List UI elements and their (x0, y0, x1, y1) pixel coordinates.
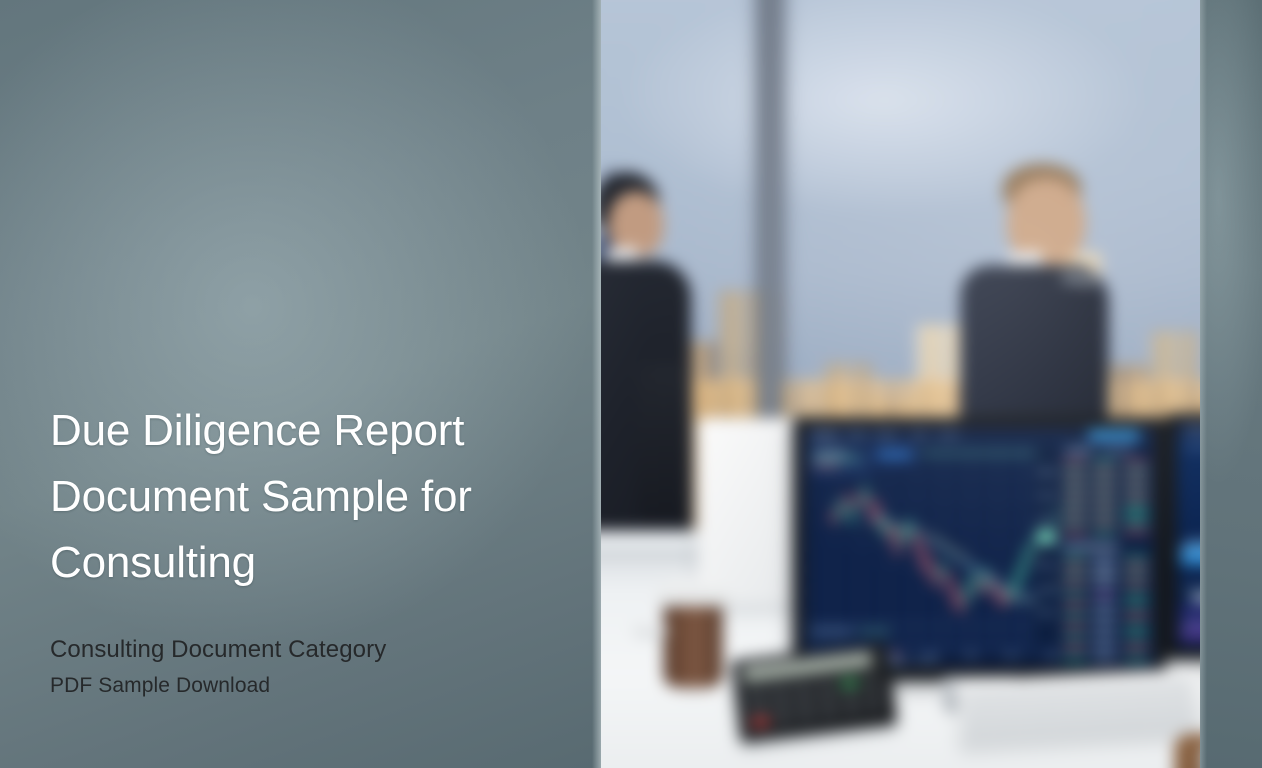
photo-lighting (560, 0, 1262, 768)
page-title: Due Diligence Report Document Sample for… (50, 398, 520, 596)
cover-text-block: Due Diligence Report Document Sample for… (50, 398, 520, 699)
download-subtitle: PDF Sample Download (50, 673, 520, 699)
document-category: Consulting Document Category (50, 635, 520, 665)
office-photograph (560, 0, 1262, 768)
document-cover-page: Due Diligence Report Document Sample for… (0, 0, 1262, 768)
foreground-wall-right (1200, 0, 1262, 768)
